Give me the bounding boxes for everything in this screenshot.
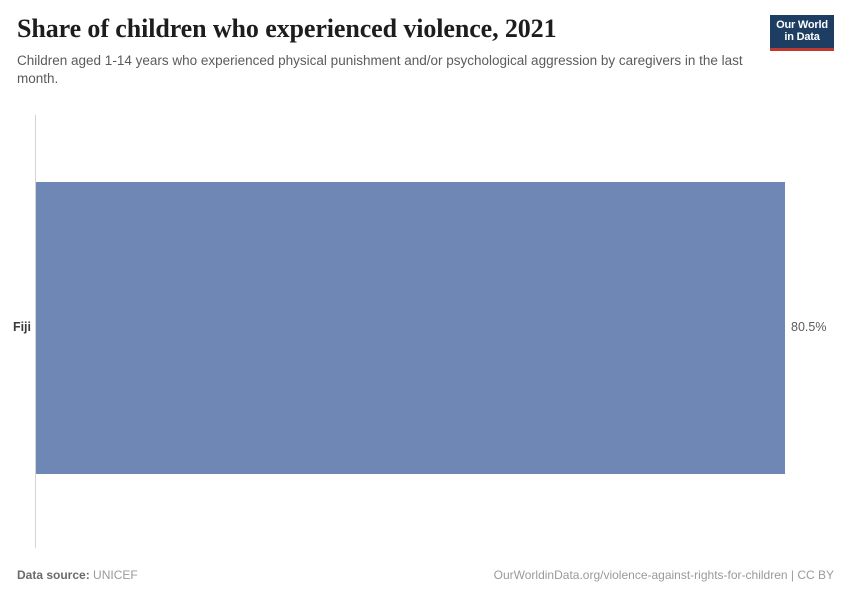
- footer-url-license[interactable]: OurWorldinData.org/violence-against-righ…: [494, 567, 834, 583]
- chart-subtitle: Children aged 1-14 years who experienced…: [17, 52, 747, 88]
- chart-footer: Data source: UNICEF OurWorldinData.org/v…: [0, 560, 850, 600]
- data-source: Data source: UNICEF: [17, 567, 138, 583]
- logo-line-one: Our World: [776, 19, 828, 31]
- data-source-value: UNICEF: [93, 568, 138, 582]
- bar-value-label: 80.5%: [791, 320, 826, 334]
- bar-series: Fiji80.5%: [0, 100, 850, 555]
- page-title: Share of children who experienced violen…: [17, 14, 757, 44]
- bar-entity-label: Fiji: [0, 320, 31, 334]
- our-world-in-data-logo[interactable]: Our World in Data: [770, 15, 834, 51]
- logo-line-two: in Data: [784, 31, 819, 43]
- chart-plot-area: Fiji80.5%: [0, 100, 850, 555]
- bar-rect[interactable]: [36, 182, 785, 474]
- data-source-label: Data source:: [17, 568, 90, 582]
- chart-header: Share of children who experienced violen…: [0, 0, 850, 100]
